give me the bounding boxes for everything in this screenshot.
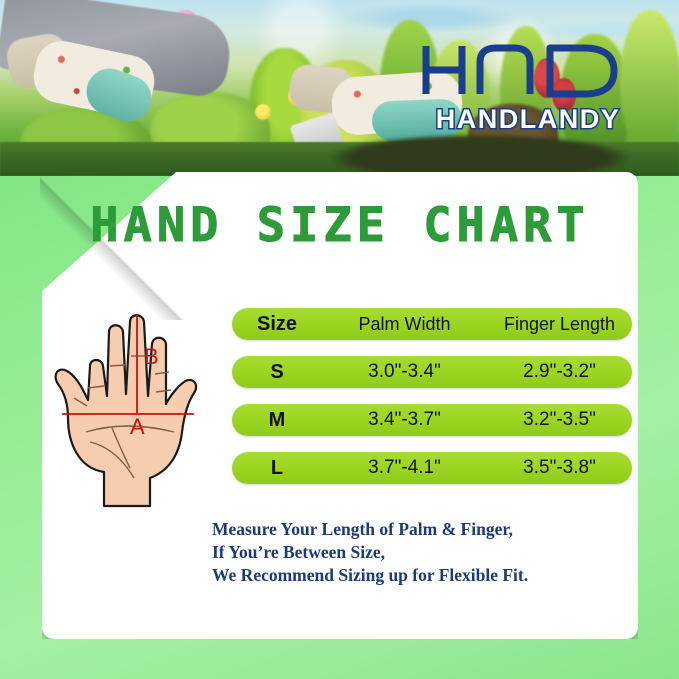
- cell-size: S: [232, 361, 322, 384]
- value-palm-width: 3.4"-3.7": [368, 409, 441, 430]
- cell-finger-length: 3.5"-3.8": [487, 457, 632, 479]
- handlandy-logo: HANDLANDY: [418, 38, 638, 138]
- sizing-note-line-1: Measure Your Length of Palm & Finger,: [212, 518, 632, 541]
- size-table: Size Palm Width Finger Length S 3.0"-3.4…: [232, 308, 632, 500]
- value-palm-width: 3.0"-3.4": [368, 361, 441, 382]
- header-cell-finger-length: Finger Length: [487, 314, 632, 335]
- cell-palm-width: 3.4"-3.7": [322, 409, 487, 431]
- cell-palm-width: 3.0"-3.4": [322, 361, 487, 383]
- header-palm-width-label: Palm Width: [358, 314, 450, 334]
- table-row: M 3.4"-3.7" 3.2"-3.5": [232, 404, 632, 436]
- hand-size-chart-image: HANDLANDY HAND SIZE CHART: [0, 0, 679, 679]
- value-finger-length: 3.5"-3.8": [523, 457, 596, 478]
- sizing-note-line-2: If You’re Between Size,: [212, 541, 632, 564]
- value-finger-length: 2.9"-3.2": [523, 361, 596, 382]
- logo-wordmark-text: HANDLANDY: [436, 104, 621, 134]
- hand-outline: [56, 315, 197, 506]
- header-cell-size: Size: [232, 313, 322, 336]
- value-palm-width: 3.7"-4.1": [368, 457, 441, 478]
- table-row: L 3.7"-4.1" 3.5"-3.8": [232, 452, 632, 484]
- cell-finger-length: 3.2"-3.5": [487, 409, 632, 431]
- cell-size: M: [232, 409, 322, 432]
- value-size: S: [270, 361, 283, 383]
- measurement-label-a: A: [130, 414, 145, 439]
- value-size: L: [271, 457, 283, 479]
- header-finger-length-label: Finger Length: [504, 314, 615, 334]
- header-cell-palm-width: Palm Width: [322, 314, 487, 335]
- value-size: M: [269, 409, 286, 431]
- hand-diagram: B A: [38, 292, 224, 508]
- hand-diagram-svg: B A: [38, 292, 224, 508]
- table-row: S 3.0"-3.4" 2.9"-3.2": [232, 356, 632, 388]
- logo-svg: HANDLANDY: [418, 38, 638, 138]
- table-header-row: Size Palm Width Finger Length: [232, 308, 632, 340]
- flower-blossom: [255, 104, 271, 120]
- cell-palm-width: 3.7"-4.1": [322, 457, 487, 479]
- measurement-label-b: B: [144, 344, 159, 369]
- soil-dark-patch: [330, 134, 630, 174]
- sizing-note-line-3: We Recommend Sizing up for Flexible Fit.: [212, 564, 632, 587]
- header-size-label: Size: [257, 313, 297, 335]
- cell-finger-length: 2.9"-3.2": [487, 361, 632, 383]
- cell-size: L: [232, 457, 322, 480]
- page-title: HAND SIZE CHART: [42, 198, 638, 253]
- sizing-note: Measure Your Length of Palm & Finger, If…: [212, 518, 632, 587]
- value-finger-length: 3.2"-3.5": [523, 409, 596, 430]
